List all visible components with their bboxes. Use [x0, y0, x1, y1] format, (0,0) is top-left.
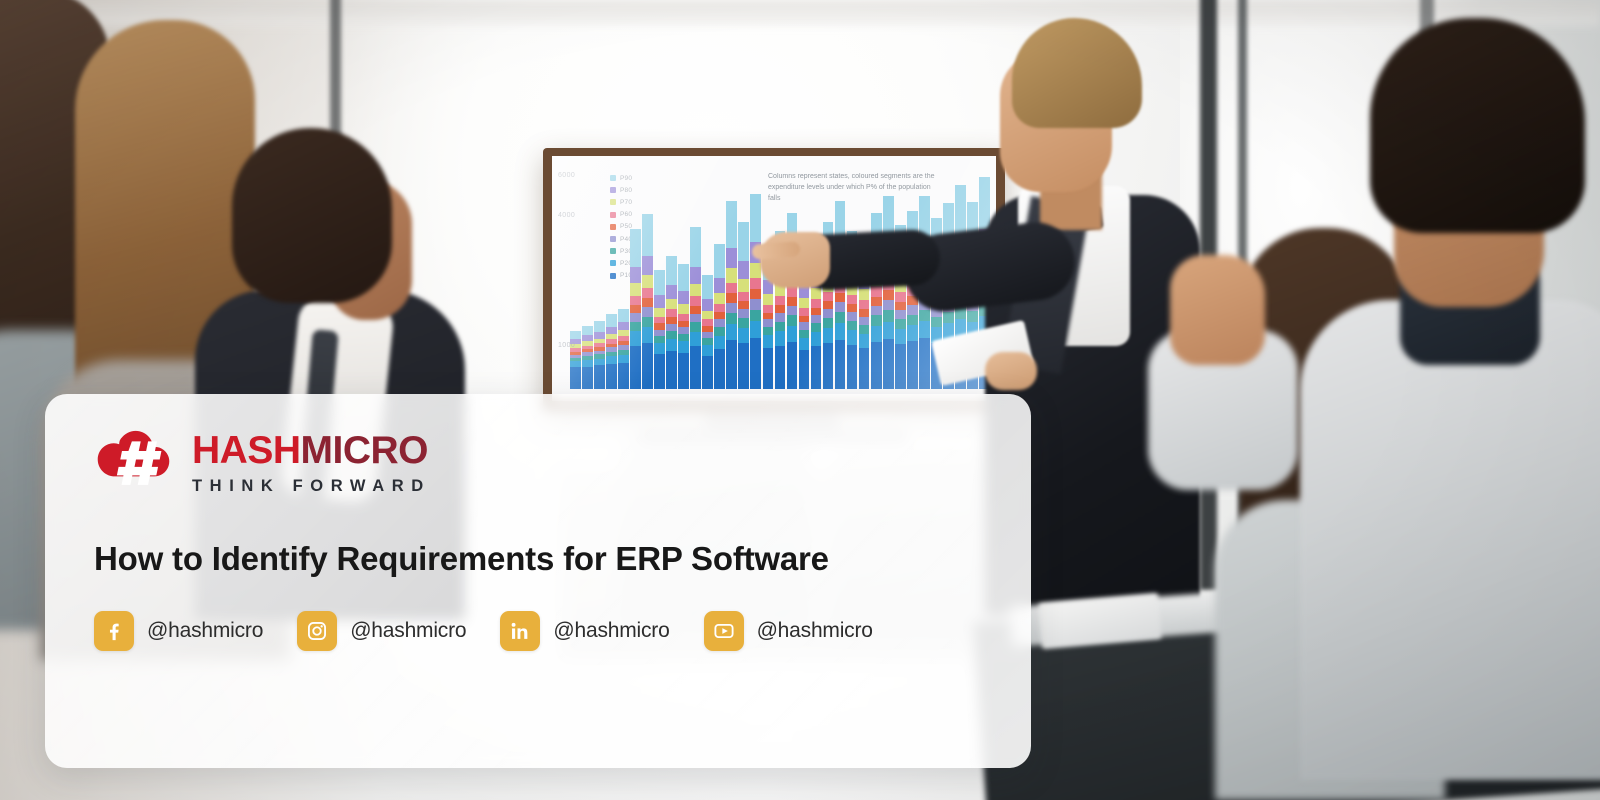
chart-bar-segment — [895, 344, 906, 389]
chart-bar — [666, 256, 677, 389]
chart-bar-segment — [823, 301, 834, 309]
chart-bar-segment — [763, 319, 774, 327]
chart-bar — [726, 201, 737, 389]
ceiling-edge — [0, 0, 1600, 26]
linkedin-icon — [500, 611, 540, 651]
chart-bar-segment — [775, 346, 786, 389]
chart-bar-segment — [690, 346, 701, 389]
chart-bar-segment — [859, 334, 870, 348]
chart-bar-segment — [630, 322, 641, 331]
chart-bar-segment — [895, 319, 906, 329]
chart-bar-segment — [714, 327, 725, 336]
chart-bar-segment — [678, 353, 689, 389]
chart-bar — [630, 229, 641, 389]
chart-bar — [738, 222, 749, 389]
chart-bar-segment — [714, 336, 725, 349]
social-link-facebook[interactable]: @hashmicro — [94, 611, 263, 651]
chart-bar-segment — [618, 363, 629, 389]
brand-logo: HASHMICRO THINK FORWARD — [94, 410, 995, 514]
chart-bar-segment — [811, 315, 822, 323]
chart-bar-segment — [738, 318, 749, 328]
chart-bar-segment — [726, 303, 737, 313]
chart-bar-segment — [630, 305, 641, 313]
chart-bar-segment — [690, 314, 701, 323]
chart-bar-segment — [931, 317, 942, 327]
social-link-youtube[interactable]: @hashmicro — [704, 611, 873, 651]
brand-name-part1: HASH — [192, 429, 301, 472]
chart-bar-segment — [726, 313, 737, 324]
chart-bar-segment — [714, 293, 725, 304]
chart-bar-segment — [666, 285, 677, 299]
chart-bar — [690, 227, 701, 389]
chart-bar-segment — [907, 305, 918, 315]
chart-bar-segment — [750, 299, 761, 310]
chart-bar-segment — [690, 296, 701, 305]
chart-bar-segment — [847, 321, 858, 330]
chart-bar-segment — [750, 338, 761, 389]
chart-bar-segment — [979, 177, 990, 229]
chart-bar-segment — [847, 295, 858, 304]
chart-bar-segment — [606, 314, 617, 326]
chart-bar-segment — [678, 327, 689, 334]
chart-bar-segment — [787, 326, 798, 342]
chart-bar — [654, 270, 665, 389]
chart-bar-segment — [738, 328, 749, 343]
chart-bar-segment — [738, 309, 749, 318]
chart-bar — [678, 264, 689, 389]
chart-bar-segment — [606, 364, 617, 389]
y-axis-tick: 4000 — [558, 212, 575, 219]
chart-bar-segment — [738, 292, 749, 301]
chart-bar-segment — [823, 328, 834, 343]
chart-bar-segment — [871, 286, 882, 296]
chart-bar-segment — [666, 331, 677, 339]
chart-bar-segment — [823, 318, 834, 328]
chart-bar-segment — [726, 324, 737, 341]
chart-bar-segment — [763, 348, 774, 389]
chart-bar-segment — [811, 299, 822, 308]
chart-bar-segment — [618, 309, 629, 323]
chart-bar-segment — [799, 298, 810, 308]
chart-bar-segment — [763, 313, 774, 320]
chart-bar-segment — [750, 194, 761, 242]
chart-bar-segment — [642, 275, 653, 289]
chart-bar-segment — [823, 292, 834, 301]
chart-bar-segment — [630, 283, 641, 295]
chart-bar-segment — [799, 330, 810, 338]
chart-bar-segment — [871, 342, 882, 389]
chart-bar-segment — [895, 302, 906, 310]
chart-bar-segment — [642, 327, 653, 343]
chart-bar-segment — [750, 289, 761, 299]
presenter-pointing-hand — [760, 232, 830, 288]
chart-bar-segment — [883, 290, 894, 300]
chart-bar — [594, 321, 605, 389]
chart-bar-segment — [678, 304, 689, 313]
chart-bar — [618, 309, 629, 389]
chart-bar-segment — [702, 311, 713, 320]
chart-bar-segment — [642, 256, 653, 275]
chart-bar-segment — [847, 330, 858, 344]
chart-bar — [750, 194, 761, 389]
chart-bar-segment — [582, 367, 593, 389]
chart-bar-segment — [787, 342, 798, 389]
hashmicro-cloud-hash-logo — [94, 426, 178, 498]
chart-bar-segment — [750, 310, 761, 321]
chart-bar-segment — [654, 295, 665, 307]
chart-bar-segment — [799, 338, 810, 350]
chart-bar-segment — [606, 327, 617, 334]
chart-bar-segment — [895, 329, 906, 344]
chart-bar-segment — [811, 332, 822, 346]
chart-bar-segment — [654, 270, 665, 295]
y-axis-tick: 1000 — [558, 342, 575, 349]
chart-bar-segment — [847, 345, 858, 389]
chart-bar-segment — [823, 309, 834, 318]
chart-bar-segment — [787, 306, 798, 316]
chart-bar-segment — [775, 322, 786, 331]
chart-bar-segment — [859, 300, 870, 309]
chart-bar-segment — [666, 351, 677, 389]
chart-bar-segment — [750, 278, 761, 289]
facebook-icon — [94, 611, 134, 651]
chart-bar-segment — [702, 356, 713, 389]
brand-name-part2: MICRO — [301, 429, 429, 472]
chart-bar — [606, 314, 617, 389]
chart-bar-segment — [702, 345, 713, 356]
chart-bar-segment — [835, 340, 846, 389]
chart-bar-segment — [702, 275, 713, 299]
chart-bar-segment — [666, 339, 677, 351]
chart-bar-segment — [618, 355, 629, 363]
chart-bar-segment — [859, 309, 870, 317]
chart-bar-segment — [907, 315, 918, 326]
chart-bar-segment — [714, 319, 725, 327]
brand-name: HASHMICRO — [192, 431, 431, 470]
y-axis-tick: 6000 — [558, 172, 575, 179]
chart-bar-segment — [570, 331, 581, 339]
chart-bar-segment — [859, 325, 870, 334]
chart-bar-segment — [714, 312, 725, 319]
social-link-linkedin[interactable]: @hashmicro — [500, 611, 669, 651]
chart-bar-segment — [642, 307, 653, 316]
chart-bar-segment — [666, 256, 677, 286]
social-handle: @hashmicro — [757, 619, 873, 643]
attendee-5-jacket — [1300, 300, 1600, 780]
chart-bar-segment — [630, 331, 641, 345]
chart-bar-segment — [883, 339, 894, 389]
chart-bar-segment — [690, 267, 701, 284]
chart-bar-segment — [811, 308, 822, 316]
chart-bar-segment — [847, 312, 858, 321]
chart-bar — [570, 331, 581, 389]
youtube-icon — [704, 611, 744, 651]
chart-bar-segment — [630, 296, 641, 305]
chart-bar-segment — [666, 317, 677, 324]
chart-bar-segment — [666, 299, 677, 309]
attendee-5-hand — [1170, 255, 1265, 365]
chart-bar-segment — [594, 365, 605, 389]
chart-bar-segment — [883, 310, 894, 321]
chart-bar-segment — [714, 244, 725, 277]
chart-bar-segment — [690, 322, 701, 331]
chart-bar-segment — [738, 261, 749, 278]
chart-bar-segment — [618, 322, 629, 330]
social-link-instagram[interactable]: @hashmicro — [297, 611, 466, 651]
chart-bar-segment — [823, 343, 834, 389]
chart-bar-segment — [763, 305, 774, 313]
chart-bar-segment — [594, 321, 605, 332]
chart-bar-segment — [859, 348, 870, 389]
chart-bar-segment — [787, 297, 798, 306]
chart-bar-segment — [883, 300, 894, 311]
chart-bar-segment — [787, 286, 798, 296]
chart-bar-segment — [835, 293, 846, 302]
chart-bar-segment — [642, 317, 653, 327]
chart-bar-segment — [642, 298, 653, 307]
attendee-3-hair — [232, 128, 392, 303]
chart-bar-segment — [570, 367, 581, 389]
chart-bar-segment — [726, 340, 737, 389]
chart-bar-segment — [678, 341, 689, 353]
chart-bar-segment — [799, 350, 810, 389]
chart-bar-segment — [799, 308, 810, 316]
chart-bar-segment — [871, 306, 882, 316]
chart-bar-segment — [895, 292, 906, 301]
chart-bar-segment — [714, 278, 725, 293]
chart-bar — [642, 214, 653, 389]
chart-bar-segment — [738, 279, 749, 292]
chart-bar-segment — [642, 214, 653, 256]
chart-bar — [835, 201, 846, 389]
chart-bar-segment — [690, 306, 701, 314]
brand-wordmark: HASHMICRO THINK FORWARD — [192, 429, 431, 496]
chart-bar-segment — [606, 356, 617, 363]
chart-bar-segment — [811, 346, 822, 389]
chart-bar-segment — [582, 326, 593, 335]
chart-bar-segment — [642, 288, 653, 298]
chart-bar-segment — [750, 321, 761, 338]
chart-bar-segment — [955, 185, 966, 235]
chart-bar-segment — [678, 334, 689, 341]
social-handle: @hashmicro — [147, 619, 263, 643]
social-links: @hashmicro@hashmicro@hashmicro@hashmicro — [94, 611, 995, 651]
chart-bar-segment — [919, 310, 930, 321]
social-handle: @hashmicro — [350, 619, 466, 643]
page-title: How to Identify Requirements for ERP Sof… — [94, 538, 904, 581]
chart-bar-segment — [811, 323, 822, 332]
chart-bar-segment — [895, 310, 906, 319]
chart-bar-segment — [678, 314, 689, 321]
chart-bar-segment — [943, 312, 954, 323]
chart-bar-segment — [726, 283, 737, 294]
chart-bar-segment — [907, 341, 918, 389]
chart-bar-segment — [726, 293, 737, 302]
promo-banner: P90P80P70P60P50P40P30P20P10 Columns repr… — [0, 0, 1600, 800]
chart-bar-segment — [859, 289, 870, 301]
chart-bar-segment — [738, 301, 749, 309]
chart-bar — [702, 275, 713, 389]
chart-bar-segment — [630, 346, 641, 389]
chart-bar-segment — [835, 323, 846, 340]
instagram-icon — [297, 611, 337, 651]
chart-bar-segment — [690, 332, 701, 346]
chart-bar-segment — [654, 308, 665, 317]
chart-bar-segment — [726, 201, 737, 248]
chart-bar-segment — [630, 313, 641, 322]
chart-bar-segment — [835, 312, 846, 323]
chart-bar-segment — [919, 321, 930, 338]
presenter-holding-hand — [985, 352, 1037, 390]
chart-bar-segment — [702, 338, 713, 345]
chart-bar-segment — [630, 267, 641, 284]
chart-bar-segment — [763, 294, 774, 305]
chart-bar-segment — [690, 227, 701, 266]
social-handle: @hashmicro — [553, 619, 669, 643]
chart-bar-segment — [763, 335, 774, 348]
chart-bar-segment — [871, 326, 882, 342]
chart-bar-segment — [763, 327, 774, 335]
chart-bar-segment — [775, 331, 786, 345]
chart-bar-segment — [775, 313, 786, 322]
chart-bar-segment — [859, 317, 870, 325]
chart-bar-segment — [871, 297, 882, 306]
chart-bar-segment — [919, 338, 930, 389]
chart-bar-segment — [678, 264, 689, 292]
chart-bar-segment — [654, 317, 665, 324]
chart-bar-segment — [835, 302, 846, 312]
chart-bar-segment — [714, 349, 725, 389]
chart-bar-segment — [690, 284, 701, 296]
chart-bar-segment — [654, 354, 665, 389]
chart-bar-segment — [738, 222, 749, 261]
chart-bar-segment — [907, 325, 918, 341]
chart-bar-segment — [787, 315, 798, 326]
attendee-5-hair — [1370, 18, 1585, 233]
chart-bar-segment — [666, 309, 677, 317]
brand-tagline: THINK FORWARD — [192, 477, 431, 496]
chart-bar-segment — [666, 324, 677, 331]
chart-bar-segment — [799, 322, 810, 329]
chart-bar-segment — [775, 296, 786, 305]
chart-bar-segment — [738, 343, 749, 389]
chart-bar — [883, 196, 894, 389]
chart-bar-segment — [847, 304, 858, 312]
chart-bar-segment — [726, 248, 737, 268]
chart-bar-segment — [967, 311, 978, 322]
chart-bar-segment — [726, 268, 737, 282]
chart-bar — [582, 326, 593, 389]
chart-bar-segment — [678, 291, 689, 304]
chart-bar-segment — [883, 322, 894, 339]
chart-bar-segment — [871, 315, 882, 326]
chart-bar-segment — [775, 305, 786, 313]
promo-card: HASHMICRO THINK FORWARD How to Identify … — [45, 394, 1031, 768]
chart-bar-segment — [654, 336, 665, 343]
chart-bar-segment — [714, 304, 725, 312]
chart-bar — [714, 244, 725, 389]
chart-bar-segment — [642, 343, 653, 389]
chart-bar-segment — [630, 229, 641, 267]
chart-bar-segment — [654, 343, 665, 354]
chart-bar-segment — [702, 299, 713, 311]
